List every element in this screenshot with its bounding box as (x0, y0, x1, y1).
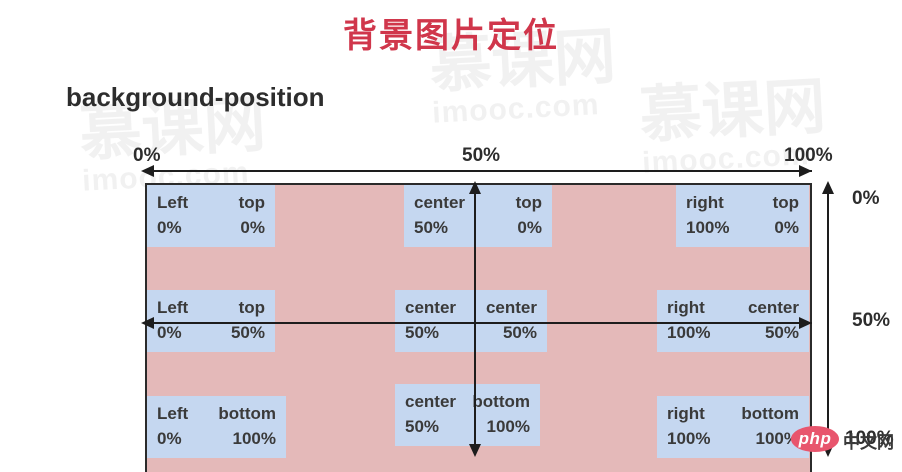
cell-keyword-x: center (405, 296, 456, 321)
cell-keyword-y: bottom (472, 390, 530, 415)
cell-pct-x: 50% (405, 321, 439, 346)
cell-pct-x: 100% (667, 427, 710, 452)
cell-keyword-x: center (414, 191, 465, 216)
axis-label-top-50: 50% (462, 145, 500, 167)
axis-label-right-50: 50% (852, 310, 890, 332)
cell-pct-x: 50% (414, 216, 448, 241)
cell-right-middle: right center 100% 50% (657, 290, 809, 352)
arrow-up-icon (469, 181, 481, 194)
axis-line-center-vertical (474, 183, 476, 455)
axis-line-middle-horizontal (145, 322, 812, 324)
cell-keyword-y: top (516, 191, 542, 216)
cell-center-top: center top 50% 0% (404, 185, 552, 247)
cell-pct-y: 50% (231, 321, 265, 346)
cell-keyword-y: top (239, 191, 265, 216)
cell-pct-x: 50% (405, 415, 439, 440)
cell-left-middle: Left top 0% 50% (147, 290, 275, 352)
php-logo-badge: php (791, 426, 839, 452)
cell-pct-y: 0% (240, 216, 265, 241)
cell-keyword-y: center (748, 296, 799, 321)
arrow-left-icon (141, 317, 154, 329)
cell-keyword-x: right (686, 191, 724, 216)
cell-keyword-x: Left (157, 296, 188, 321)
cell-pct-x: 100% (667, 321, 710, 346)
cell-keyword-y: bottom (741, 402, 799, 427)
cell-right-bottom: right bottom 100% 100% (657, 396, 809, 458)
axis-label-top-0: 0% (133, 145, 160, 167)
cell-center-middle: center center 50% 50% (395, 290, 547, 352)
cell-pct-x: 0% (157, 427, 182, 452)
background-position-diagram: Left top 0% 0% center top 50% 0% right t… (0, 0, 902, 472)
arrow-right-icon (799, 317, 812, 329)
arrow-up-icon (822, 181, 834, 194)
cell-keyword-y: top (773, 191, 799, 216)
cell-pct-y: 50% (765, 321, 799, 346)
axis-label-top-100: 100% (784, 145, 833, 167)
axis-line-right-vertical (827, 183, 829, 455)
cell-pct-x: 0% (157, 216, 182, 241)
cell-keyword-y: top (239, 296, 265, 321)
cell-pct-y: 100% (233, 427, 276, 452)
php-chinese-label: 中文网 (843, 428, 894, 453)
cell-keyword-y: center (486, 296, 537, 321)
cell-keyword-x: right (667, 296, 705, 321)
cell-keyword-x: Left (157, 191, 188, 216)
cell-keyword-x: Left (157, 402, 188, 427)
cell-pct-y: 0% (517, 216, 542, 241)
arrow-down-icon (469, 444, 481, 457)
cell-right-top: right top 100% 0% (676, 185, 809, 247)
cell-left-bottom: Left bottom 0% 100% (147, 396, 286, 458)
diagram-canvas: Left top 0% 0% center top 50% 0% right t… (145, 183, 812, 472)
cell-pct-x: 100% (686, 216, 729, 241)
axis-line-top (145, 170, 812, 172)
cell-keyword-x: right (667, 402, 705, 427)
cell-pct-y: 0% (774, 216, 799, 241)
cell-left-top: Left top 0% 0% (147, 185, 275, 247)
cell-keyword-x: center (405, 390, 456, 415)
axis-label-right-0: 0% (852, 188, 879, 210)
cell-center-bottom: center bottom 50% 100% (395, 384, 540, 446)
cell-pct-y: 100% (487, 415, 530, 440)
cell-pct-x: 0% (157, 321, 182, 346)
cell-pct-y: 50% (503, 321, 537, 346)
cell-keyword-y: bottom (218, 402, 276, 427)
